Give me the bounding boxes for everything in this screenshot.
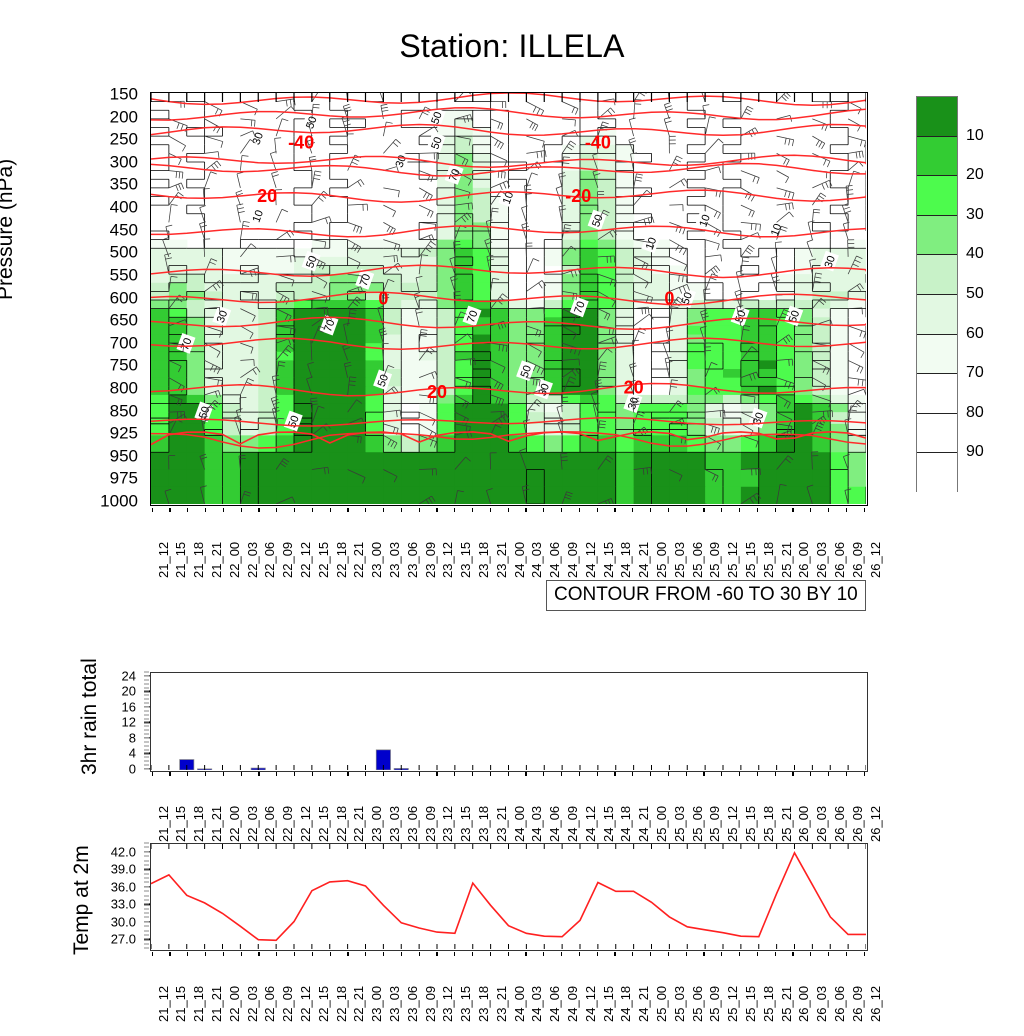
- xsec-plot-svg: 3050507050703070707070505050505050101010…: [151, 93, 866, 504]
- svg-text:-20: -20: [565, 186, 591, 206]
- temp-x-label: 26_12: [869, 986, 882, 1022]
- xsec-x-tick: [454, 508, 455, 512]
- temp-x-tick: [401, 952, 402, 956]
- temp-x-tick: [703, 952, 704, 956]
- xsec-y-tick-label: 850: [110, 402, 138, 419]
- rain-y-minor-tick: [144, 714, 149, 715]
- temp-y-minor-tick: [144, 917, 149, 918]
- xsec-x-label: 23_09: [424, 542, 437, 578]
- temp-x-label: 21_15: [174, 986, 187, 1022]
- temp-y-axis-labels: 27.030.033.036.039.042.0: [88, 843, 144, 951]
- xsec-x-tick: [490, 508, 491, 512]
- rain-x-tick: [436, 772, 437, 776]
- temp-plot-svg: [151, 844, 866, 949]
- temp-x-label: 24_15: [602, 986, 615, 1022]
- xsec-x-label: 23_03: [388, 542, 401, 578]
- rain-x-label: 23_06: [406, 806, 419, 842]
- colorbar-tick-label: 10: [966, 128, 984, 144]
- xsec-y-tick-label: 500: [110, 244, 138, 261]
- rain-y-minor-tick: [144, 737, 149, 738]
- temp-x-label: 22_21: [352, 986, 365, 1022]
- rain-x-label: 22_03: [246, 806, 259, 842]
- temp-y-minor-tick: [144, 891, 149, 892]
- xsec-x-label: 22_21: [352, 542, 365, 578]
- rain-y-tick-label: 16: [122, 700, 136, 713]
- colorbar-band: [917, 453, 957, 493]
- temp-y-minor-tick: [144, 948, 149, 949]
- colorbar-band: [917, 137, 957, 177]
- xsec-y-tick-label: 950: [110, 447, 138, 464]
- rain-x-tick: [828, 772, 829, 776]
- rain-y-minor-tick: [144, 699, 149, 700]
- temp-x-label: 24_06: [548, 986, 561, 1022]
- temp-x-label: 23_06: [406, 986, 419, 1022]
- rain-x-label: 22_18: [335, 806, 348, 842]
- xsec-y-tick-label: 800: [110, 379, 138, 396]
- temp-x-label: 24_03: [530, 986, 543, 1022]
- xsec-x-tick: [792, 508, 793, 512]
- rain-x-tick: [365, 772, 366, 776]
- xsec-x-tick: [525, 508, 526, 512]
- rain-x-label: 22_06: [263, 806, 276, 842]
- rain-x-label: 21_18: [192, 806, 205, 842]
- xsec-x-tick: [152, 508, 153, 512]
- rain-x-tick: [650, 772, 651, 776]
- temp-plot-frame: [150, 843, 868, 951]
- xsec-x-label: 24_18: [619, 542, 632, 578]
- rain-y-tick-label: 24: [122, 669, 136, 682]
- rain-x-label: 26_03: [815, 806, 828, 842]
- temp-x-label: 26_00: [797, 986, 810, 1022]
- temp-y-tick-label: 42.0: [111, 845, 136, 858]
- xsec-x-tick: [365, 508, 366, 512]
- temp-x-label: 23_15: [459, 986, 472, 1022]
- xsec-x-label: 25_12: [726, 542, 739, 578]
- rain-x-tick: [312, 772, 313, 776]
- temp-x-label: 25_15: [744, 986, 757, 1022]
- temp-y-minor-tick: [144, 878, 149, 879]
- rain-x-tick: [330, 772, 331, 776]
- xsec-x-label: 25_09: [708, 542, 721, 578]
- rain-x-tick: [543, 772, 544, 776]
- temp-x-label: 22_06: [263, 986, 276, 1022]
- xsec-x-label: 21_15: [174, 542, 187, 578]
- rain-x-tick: [223, 772, 224, 776]
- temp-x-label: 22_09: [281, 986, 294, 1022]
- xsec-y-tick-label: 250: [110, 131, 138, 148]
- xsec-x-tick: [401, 508, 402, 512]
- rain-x-label: 22_00: [228, 806, 241, 842]
- rain-x-tick: [810, 772, 811, 776]
- rain-x-label: 26_09: [851, 806, 864, 842]
- xsec-x-label: 24_15: [602, 542, 615, 578]
- colorbar-band: [917, 374, 957, 414]
- temp-x-tick: [436, 952, 437, 956]
- xsec-x-label: 25_21: [780, 542, 793, 578]
- temp-x-label: 21_18: [192, 986, 205, 1022]
- temp-x-tick: [347, 952, 348, 956]
- xsec-x-label: 23_15: [459, 542, 472, 578]
- colorbar-tick-label: 90: [966, 444, 984, 460]
- temp-x-label: 22_18: [335, 986, 348, 1022]
- rain-y-minor-tick: [144, 753, 149, 754]
- colorbar-band: [917, 295, 957, 335]
- temp-x-label: 24_12: [584, 986, 597, 1022]
- rain-x-tick: [757, 772, 758, 776]
- rain-x-label: 24_09: [566, 806, 579, 842]
- xsec-x-label: 25_18: [762, 542, 775, 578]
- temp-x-tick: [579, 952, 580, 956]
- xsec-x-label: 21_18: [192, 542, 205, 578]
- xsec-x-tick: [864, 508, 865, 512]
- rain-x-label: 25_21: [780, 806, 793, 842]
- colorbar-tick-labels: 102030405060708090: [966, 96, 1022, 492]
- xsec-x-label: 26_06: [833, 542, 846, 578]
- xsec-x-label: 23_21: [495, 542, 508, 578]
- rain-x-tick: [792, 772, 793, 776]
- temp-x-label: 25_09: [708, 986, 721, 1022]
- rain-y-minor-tick: [144, 675, 149, 676]
- rain-x-label: 21_15: [174, 806, 187, 842]
- temp-x-label: 23_03: [388, 986, 401, 1022]
- xsec-x-tick: [508, 508, 509, 512]
- xsec-x-label: 24_03: [530, 542, 543, 578]
- temp-x-tick: [597, 952, 598, 956]
- colorbar-tick-label: 30: [966, 207, 984, 223]
- xsec-x-tick: [472, 508, 473, 512]
- temp-x-tick: [810, 952, 811, 956]
- temp-x-label: 25_06: [691, 986, 704, 1022]
- rain-y-tick-label: 4: [129, 747, 136, 760]
- xsec-y-tick-label: 150: [110, 86, 138, 103]
- temp-y-tick-label: 30.0: [111, 915, 136, 928]
- colorbar-band: [917, 414, 957, 454]
- temp-x-tick: [241, 952, 242, 956]
- temp-x-tick: [223, 952, 224, 956]
- rain-y-minor-tick: [144, 765, 149, 766]
- rain-x-label: 25_03: [673, 806, 686, 842]
- xsec-x-label: 23_06: [406, 542, 419, 578]
- rain-y-minor-tick: [144, 769, 149, 770]
- rain-x-tick: [419, 772, 420, 776]
- temp-x-tick: [792, 952, 793, 956]
- temp-x-tick: [757, 952, 758, 956]
- xsec-x-label: 25_03: [673, 542, 686, 578]
- xsec-x-tick: [330, 508, 331, 512]
- rain-x-tick: [401, 772, 402, 776]
- temp-x-tick: [294, 952, 295, 956]
- xsec-y-tick-label: 350: [110, 176, 138, 193]
- rain-x-tick: [597, 772, 598, 776]
- temp-x-tick: [419, 952, 420, 956]
- rain-y-tick-label: 8: [129, 731, 136, 744]
- rain-y-minor-tick: [144, 734, 149, 735]
- rain-x-tick: [703, 772, 704, 776]
- temp-x-label: 22_15: [317, 986, 330, 1022]
- temp-y-minor-tick: [144, 864, 149, 865]
- rain-x-tick: [490, 772, 491, 776]
- xsec-x-tick: [721, 508, 722, 512]
- temp-x-tick: [187, 952, 188, 956]
- xsec-x-tick: [686, 508, 687, 512]
- rain-x-label: 22_09: [281, 806, 294, 842]
- rain-x-label: 22_12: [299, 806, 312, 842]
- temp-y-minor-tick: [144, 913, 149, 914]
- temp-x-tick: [721, 952, 722, 956]
- xsec-x-tick: [347, 508, 348, 512]
- svg-text:-40: -40: [288, 132, 314, 152]
- xsec-x-label: 24_21: [637, 542, 650, 578]
- weather-meteogram-page: Station: ILLELA Pressure (hPa) 150200250…: [0, 0, 1024, 1024]
- rain-x-tick: [686, 772, 687, 776]
- rain-x-label: 23_00: [370, 806, 383, 842]
- rain-y-minor-tick: [144, 722, 149, 723]
- colorbar-band: [917, 97, 957, 137]
- temp-y-minor-tick: [144, 847, 149, 848]
- xsec-y-tick-label: 400: [110, 199, 138, 216]
- xsec-x-tick: [187, 508, 188, 512]
- rain-x-label: 26_12: [869, 806, 882, 842]
- rain-y-minor-tick: [144, 730, 149, 731]
- xsec-x-tick: [294, 508, 295, 512]
- temp-x-label: 25_12: [726, 986, 739, 1022]
- xsec-x-tick: [223, 508, 224, 512]
- svg-text:20: 20: [427, 382, 447, 402]
- xsec-x-label: 23_00: [370, 542, 383, 578]
- temp-y-minor-tick: [144, 895, 149, 896]
- temp-x-label: 22_12: [299, 986, 312, 1022]
- xsec-x-label: 22_06: [263, 542, 276, 578]
- xsec-x-label: 24_06: [548, 542, 561, 578]
- temp-y-minor-tick: [144, 856, 149, 857]
- temp-x-tick: [614, 952, 615, 956]
- temp-y-minor-tick: [144, 869, 149, 870]
- temp-x-label: 25_00: [655, 986, 668, 1022]
- temp-x-tick: [258, 952, 259, 956]
- rain-x-label: 25_18: [762, 806, 775, 842]
- temp-x-label: 24_18: [619, 986, 632, 1022]
- xsec-x-tick: [383, 508, 384, 512]
- xsec-x-label: 26_12: [869, 542, 882, 578]
- temp-x-label: 23_09: [424, 986, 437, 1022]
- rain-y-tick-label: 20: [122, 685, 136, 698]
- xsec-x-tick: [739, 508, 740, 512]
- xsec-x-tick: [828, 508, 829, 512]
- temp-x-tick: [205, 952, 206, 956]
- temp-x-label: 21_21: [210, 986, 223, 1022]
- temp-y-minor-tick: [144, 860, 149, 861]
- temp-x-tick: [276, 952, 277, 956]
- rain-x-label: 24_18: [619, 806, 632, 842]
- xsec-x-tick: [312, 508, 313, 512]
- rain-x-label: 24_15: [602, 806, 615, 842]
- rain-x-label: 24_12: [584, 806, 597, 842]
- rain-plot-frame: [150, 672, 868, 772]
- xsec-x-tick: [597, 508, 598, 512]
- rain-x-tick: [579, 772, 580, 776]
- rain-x-tick: [152, 772, 153, 776]
- temp-x-label: 26_09: [851, 986, 864, 1022]
- xsec-x-label: 21_12: [157, 542, 170, 578]
- rain-y-minor-tick: [144, 706, 149, 707]
- temp-y-minor-tick: [144, 926, 149, 927]
- xsec-x-tick: [703, 508, 704, 512]
- rain-x-label: 23_09: [424, 806, 437, 842]
- xsec-x-label: 22_18: [335, 542, 348, 578]
- xsec-y-tick-label: 700: [110, 334, 138, 351]
- rain-x-tick: [864, 772, 865, 776]
- rain-y-minor-tick: [144, 703, 149, 704]
- xsec-x-label: 24_12: [584, 542, 597, 578]
- xsec-y-tick-label: 975: [110, 470, 138, 487]
- rain-y-minor-tick: [144, 726, 149, 727]
- rain-x-label: 25_06: [691, 806, 704, 842]
- temp-x-tick: [668, 952, 669, 956]
- colorbar-band: [917, 255, 957, 295]
- temp-x-tick: [846, 952, 847, 956]
- temp-y-minor-tick: [144, 921, 149, 922]
- temp-panel: [150, 843, 868, 951]
- colorbar-tick-label: 50: [966, 286, 984, 302]
- temp-x-tick: [775, 952, 776, 956]
- temp-x-tick: [561, 952, 562, 956]
- xsec-x-label: 22_03: [246, 542, 259, 578]
- xsec-y-tick-label: 200: [110, 108, 138, 125]
- rain-x-label: 26_06: [833, 806, 846, 842]
- xsec-x-label: 23_18: [477, 542, 490, 578]
- rain-x-tick: [846, 772, 847, 776]
- xsec-y-tick-label: 1000: [100, 493, 138, 510]
- temp-x-label: 26_06: [833, 986, 846, 1022]
- rain-x-tick: [294, 772, 295, 776]
- rain-x-tick: [205, 772, 206, 776]
- xsec-x-label: 25_15: [744, 542, 757, 578]
- temp-x-label: 23_00: [370, 986, 383, 1022]
- colorbar-tick-label: 70: [966, 365, 984, 381]
- xsec-y-tick-label: 750: [110, 357, 138, 374]
- xsec-y-axis-title: Pressure (hPa): [0, 159, 18, 300]
- rain-y-axis-labels: 04812162024: [96, 672, 144, 772]
- xsec-x-tick: [632, 508, 633, 512]
- xsec-x-label: 24_00: [513, 542, 526, 578]
- contour-legend-note: CONTOUR FROM -60 TO 30 BY 10: [546, 580, 866, 611]
- rain-x-label: 23_15: [459, 806, 472, 842]
- xsec-x-tick: [169, 508, 170, 512]
- temp-x-label: 23_12: [441, 986, 454, 1022]
- temp-x-label: 24_00: [513, 986, 526, 1022]
- xsec-x-tick: [258, 508, 259, 512]
- temp-y-minor-tick: [144, 873, 149, 874]
- temp-y-minor-tick: [144, 943, 149, 944]
- rain-y-minor-tick: [144, 683, 149, 684]
- xsec-x-label: 22_15: [317, 542, 330, 578]
- temp-x-tick: [543, 952, 544, 956]
- rain-x-label: 23_03: [388, 806, 401, 842]
- xsec-x-label: 23_12: [441, 542, 454, 578]
- temp-y-tick-label: 39.0: [111, 863, 136, 876]
- rain-x-label: 21_12: [157, 806, 170, 842]
- xsec-x-label: 21_21: [210, 542, 223, 578]
- xsec-x-tick: [650, 508, 651, 512]
- temp-x-label: 25_03: [673, 986, 686, 1022]
- xsec-x-tick: [543, 508, 544, 512]
- xsec-x-tick: [757, 508, 758, 512]
- xsec-x-tick: [276, 508, 277, 512]
- temp-y-minor-tick: [144, 934, 149, 935]
- rain-x-label: 21_21: [210, 806, 223, 842]
- temp-x-label: 21_12: [157, 986, 170, 1022]
- rain-y-tick-label: 12: [122, 716, 136, 729]
- rain-x-label: 24_21: [637, 806, 650, 842]
- rain-x-label: 22_21: [352, 806, 365, 842]
- xsec-y-tick-label: 450: [110, 221, 138, 238]
- humidity-cross-section-panel: 3050507050703070707070505050505050101010…: [150, 92, 868, 506]
- xsec-x-label: 22_00: [228, 542, 241, 578]
- xsec-y-tick-label: 550: [110, 266, 138, 283]
- rain-y-tick-label: 0: [129, 763, 136, 776]
- rain-y-minor-tick: [144, 749, 149, 750]
- temp-x-tick: [632, 952, 633, 956]
- xsec-x-tick: [561, 508, 562, 512]
- rain-y-minor-tick: [144, 672, 149, 673]
- rain-x-tick: [454, 772, 455, 776]
- temp-y-tick-label: 36.0: [111, 880, 136, 893]
- temp-x-label: 24_09: [566, 986, 579, 1022]
- xsec-x-tick: [419, 508, 420, 512]
- temp-y-minor-tick: [144, 939, 149, 940]
- rain-x-label: 24_06: [548, 806, 561, 842]
- rain-x-label: 25_12: [726, 806, 739, 842]
- rain-x-label: 25_15: [744, 806, 757, 842]
- rain-x-tick: [276, 772, 277, 776]
- rain-x-tick: [508, 772, 509, 776]
- humidity-colorbar: [916, 96, 958, 492]
- rain-y-minor-tick: [144, 757, 149, 758]
- xsec-x-label: 25_06: [691, 542, 704, 578]
- rain-x-tick: [187, 772, 188, 776]
- temp-y-minor-tick: [144, 851, 149, 852]
- colorbar-band: [917, 216, 957, 256]
- xsec-x-tick: [810, 508, 811, 512]
- xsec-x-label: 22_12: [299, 542, 312, 578]
- xsec-x-label: 26_09: [851, 542, 864, 578]
- colorbar-tick-label: 40: [966, 246, 984, 262]
- temp-y-minor-tick: [144, 904, 149, 905]
- temp-x-tick: [739, 952, 740, 956]
- rain-x-tick: [525, 772, 526, 776]
- xsec-y-tick-label: 925: [110, 425, 138, 442]
- temp-y-tick-label: 33.0: [111, 898, 136, 911]
- xsec-x-label: 26_00: [797, 542, 810, 578]
- rain-x-label: 25_09: [708, 806, 721, 842]
- xsec-x-label: 22_09: [281, 542, 294, 578]
- rain-x-label: 23_18: [477, 806, 490, 842]
- rain-x-tick: [561, 772, 562, 776]
- temp-x-tick: [686, 952, 687, 956]
- temp-x-tick: [365, 952, 366, 956]
- rain-x-tick: [169, 772, 170, 776]
- rain-x-tick: [668, 772, 669, 776]
- temp-x-tick: [508, 952, 509, 956]
- temp-x-label: 24_21: [637, 986, 650, 1022]
- xsec-x-tick: [775, 508, 776, 512]
- temp-x-tick: [312, 952, 313, 956]
- temp-x-tick: [152, 952, 153, 956]
- svg-text:20: 20: [624, 378, 644, 398]
- temp-x-label: 26_03: [815, 986, 828, 1022]
- temp-y-minor-tick: [144, 882, 149, 883]
- xsec-y-axis-labels: 1502002503003504004505005506006507007508…: [60, 92, 144, 506]
